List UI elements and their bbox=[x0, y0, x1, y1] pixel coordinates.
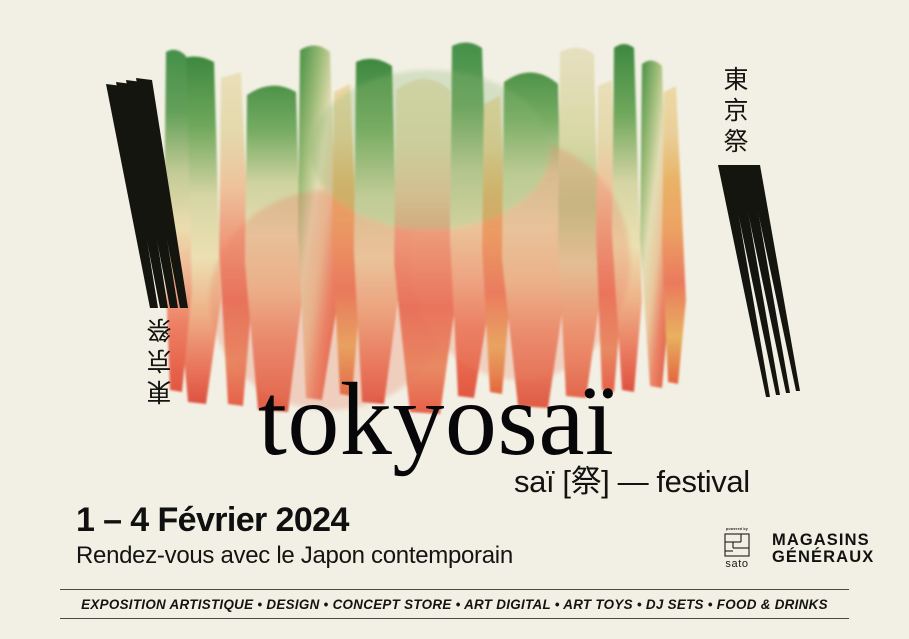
wordmark-title: tokyosaï bbox=[258, 368, 614, 472]
magasins-generaux-line1: MAGASINS bbox=[772, 532, 874, 549]
sponsor-logos: powered by sato MAGASINS GÉNÉRAUX bbox=[716, 528, 874, 570]
event-dates: 1 – 4 Février 2024 bbox=[76, 503, 349, 537]
sato-wordmark: sato bbox=[725, 559, 748, 570]
wash-blob bbox=[310, 70, 550, 230]
magasins-generaux-logo: MAGASINS GÉNÉRAUX bbox=[772, 532, 874, 567]
diagonal-strokes-left bbox=[92, 78, 212, 323]
sato-logo: powered by sato bbox=[716, 528, 758, 570]
strokes-right-svg bbox=[700, 163, 820, 403]
program-ticker-text: EXPOSITION ARTISTIQUE • DESIGN • CONCEPT… bbox=[81, 597, 828, 612]
japanese-title-left: 東京祭 bbox=[148, 312, 174, 405]
sato-mark-icon bbox=[724, 533, 750, 557]
wordmark-subtitle: saï [祭] — festival bbox=[514, 466, 750, 497]
japanese-title-right: 東京祭 bbox=[721, 66, 747, 159]
event-tagline: Rendez-vous avec le Japon contemporain bbox=[76, 542, 513, 570]
strokes-left-svg bbox=[92, 78, 212, 318]
program-ticker: EXPOSITION ARTISTIQUE • DESIGN • CONCEPT… bbox=[60, 589, 849, 619]
poster-canvas: 東京祭 東京祭 tokyosaï saï [祭] — festival 1 – … bbox=[0, 0, 909, 639]
sato-powered-by-label: powered by bbox=[726, 528, 748, 532]
diagonal-strokes-right bbox=[700, 163, 820, 408]
magasins-generaux-line2: GÉNÉRAUX bbox=[772, 549, 874, 566]
